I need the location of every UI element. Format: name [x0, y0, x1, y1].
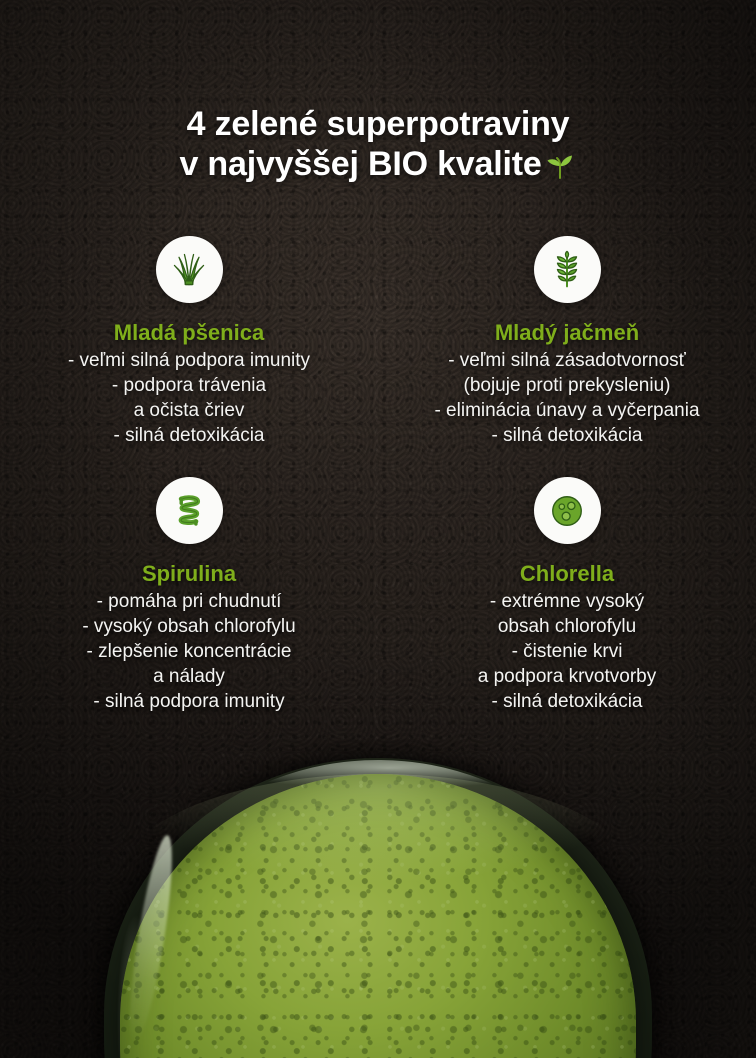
card-line: (bojuje proti prekysleniu) [386, 373, 748, 398]
wheatgrass-icon [156, 236, 223, 303]
poster-title: 4 zelené superpotraviny v najvyššej BIO … [0, 104, 756, 184]
card-line: a očista čriev [8, 398, 370, 423]
infographic-poster: 4 zelené superpotraviny v najvyššej BIO … [0, 0, 756, 1058]
card-title: Mladý jačmeň [386, 320, 748, 346]
card-line: - silná podpora imunity [8, 689, 370, 714]
card-line: - pomáha pri chudnutí [8, 589, 370, 614]
card-line: - eliminácia únavy a vyčerpania [386, 398, 748, 423]
card-title: Chlorella [386, 561, 748, 587]
title-line-1: 4 zelené superpotraviny [0, 104, 756, 144]
card-line: - zlepšenie koncentrácie [8, 639, 370, 664]
card-row-top: Mladá pšenica - veľmi silná podpora imun… [0, 236, 756, 448]
card-mlada-psenica: Mladá pšenica - veľmi silná podpora imun… [0, 236, 378, 448]
chlorella-cell-icon [534, 477, 601, 544]
card-line: - silná detoxikácia [8, 423, 370, 448]
card-line: - silná detoxikácia [386, 423, 748, 448]
spirulina-spiral-icon [156, 477, 223, 544]
card-line: - veľmi silná zásadotvornosť [386, 348, 748, 373]
card-line: a podpora krvotvorby [386, 664, 748, 689]
card-line: - veľmi silná podpora imunity [8, 348, 370, 373]
card-lines: - pomáha pri chudnutí - vysoký obsah chl… [8, 589, 370, 714]
card-line: obsah chlorofylu [386, 614, 748, 639]
card-title: Spirulina [8, 561, 370, 587]
sprout-icon [543, 148, 577, 178]
title-line-2-row: v najvyššej BIO kvalite [179, 144, 576, 184]
title-line-2: v najvyššej BIO kvalite [179, 145, 541, 183]
card-lines: - veľmi silná podpora imunity - podpora … [8, 348, 370, 448]
card-row-bottom: Spirulina - pomáha pri chudnutí - vysoký… [0, 477, 756, 714]
card-lines: - extrémne vysoký obsah chlorofylu - čis… [386, 589, 748, 714]
card-line: - čistenie krvi [386, 639, 748, 664]
foam-top-sheen [120, 774, 636, 924]
card-lines: - veľmi silná zásadotvornosť (bojuje pro… [386, 348, 748, 448]
card-line: - silná detoxikácia [386, 689, 748, 714]
superfood-cards: Mladá pšenica - veľmi silná podpora imun… [0, 236, 756, 714]
juice-surface [120, 774, 636, 1058]
card-title: Mladá pšenica [8, 320, 370, 346]
barley-stalk-icon [534, 236, 601, 303]
card-line: - vysoký obsah chlorofylu [8, 614, 370, 639]
card-line: a nálady [8, 664, 370, 689]
card-spirulina: Spirulina - pomáha pri chudnutí - vysoký… [0, 477, 378, 714]
card-line: - extrémne vysoký [386, 589, 748, 614]
card-mlady-jacmen: Mladý jačmeň - veľmi silná zásadotvornos… [378, 236, 756, 448]
green-smoothie-glass [0, 738, 756, 1058]
card-line: - podpora trávenia [8, 373, 370, 398]
card-chlorella: Chlorella - extrémne vysoký obsah chloro… [378, 477, 756, 714]
